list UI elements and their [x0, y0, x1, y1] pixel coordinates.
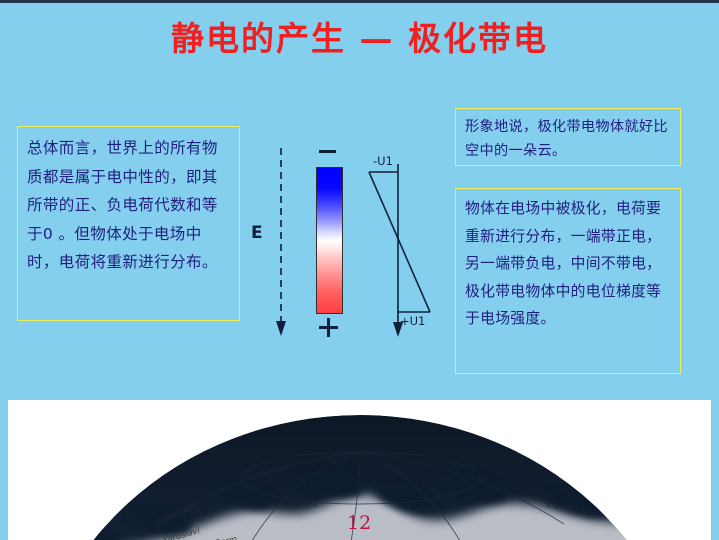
- slide-canvas: 静电的产生 — 极化带电 总体而言，世界上的所有物质都是属于电中性的，即其所带的…: [0, 0, 719, 540]
- text-box-right-top: 形象地说，极化带电物体就好比空中的一朵云。: [455, 108, 681, 166]
- page-number: 12: [347, 512, 371, 534]
- potential-slope-line: [369, 172, 430, 312]
- top-rule-divider: [0, 0, 719, 3]
- page-title: 静电的产生 — 极化带电: [0, 12, 719, 60]
- text-box-left: 总体而言，世界上的所有物质都是属于电中性的，即其所带的正、负电荷代数和等于0 。…: [17, 126, 240, 321]
- potential-bottom-label: +U1: [400, 314, 425, 328]
- potential-top-label: -U1: [373, 154, 393, 168]
- text-box-right-bottom: 物体在电场中被极化，电荷要重新进行分布，一端带正电，另一端带负电，中间不带电，极…: [455, 188, 681, 374]
- polarization-diagram: E -U1 +U1: [240, 140, 450, 350]
